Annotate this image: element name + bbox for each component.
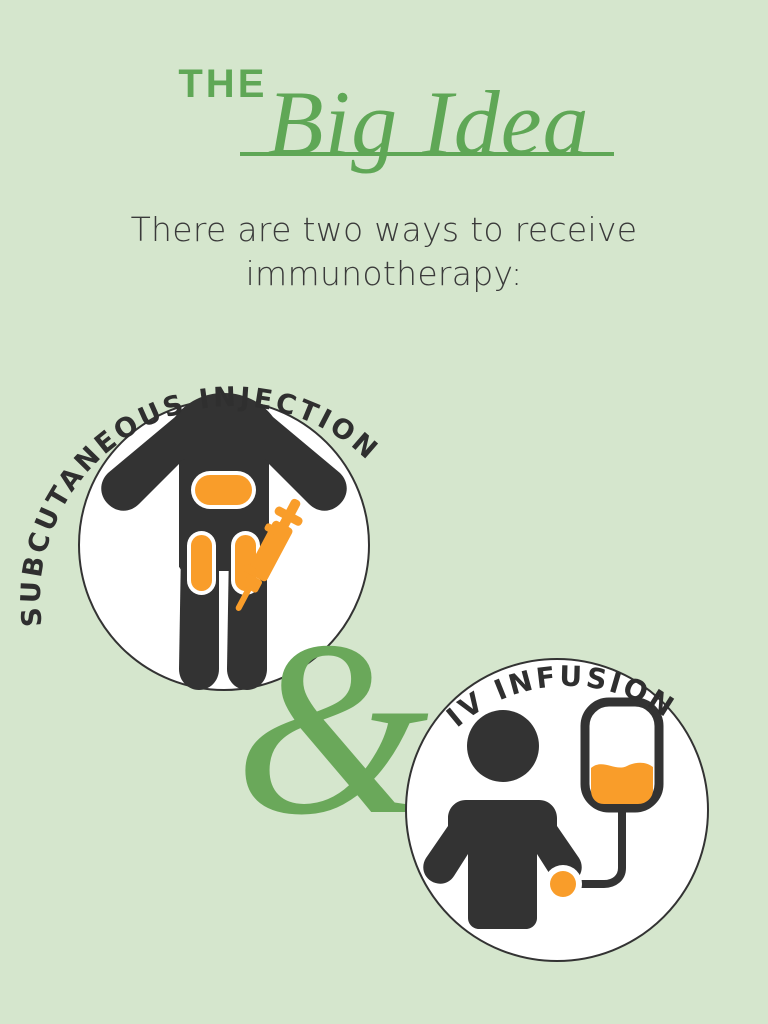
left-thigh-injection-site — [187, 531, 216, 595]
subtitle-line-2: immunotherapy: — [0, 252, 768, 296]
subtitle: There are two ways to receive immunother… — [0, 208, 768, 296]
iv-fluid — [591, 763, 653, 804]
injection-port — [544, 865, 582, 903]
page-title: THEBig Idea — [0, 56, 768, 162]
ampersand-connector: & — [232, 604, 432, 854]
iv-bag — [585, 702, 659, 808]
abdomen-injection-site — [191, 471, 256, 509]
iv-infusion-icon — [405, 658, 709, 962]
title-underline — [240, 152, 614, 156]
infographic-poster: THEBig Idea There are two ways to receiv… — [0, 0, 768, 1024]
title-kicker: THE — [178, 62, 267, 106]
title-main: Big Idea — [267, 72, 589, 174]
subtitle-line-1: There are two ways to receive — [0, 208, 768, 252]
